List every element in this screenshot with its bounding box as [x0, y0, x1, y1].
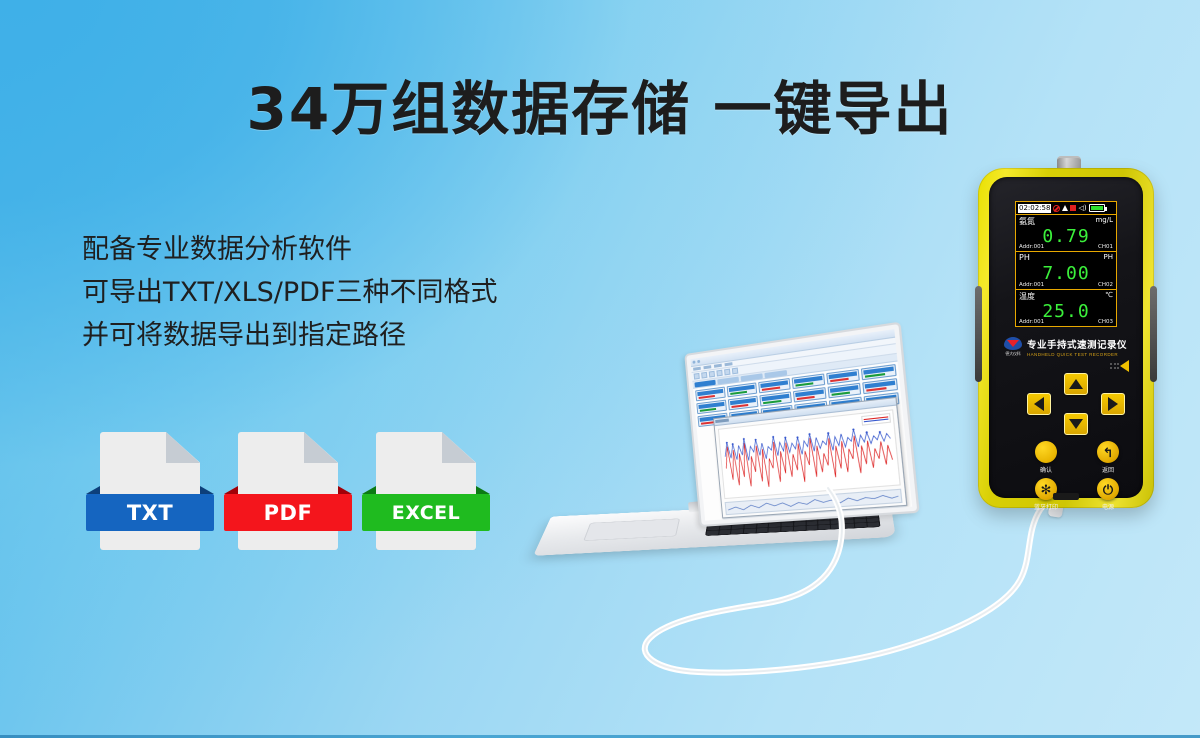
page-title: 34万组数据存储 一键导出: [0, 62, 1200, 146]
measurement-unit: mg/L: [1095, 216, 1113, 224]
back-button[interactable]: ↰ 返回: [1097, 441, 1119, 474]
device-function-buttons: 确认 ↰ 返回 ✻ 蓝牙打印 ⏻ 电源: [1015, 441, 1139, 511]
bluetooth-print-button-label: 蓝牙打印: [1034, 502, 1058, 511]
device-grip-right: [1150, 286, 1157, 382]
dpad-right-button[interactable]: [1101, 393, 1125, 415]
toolbar-icon[interactable]: [716, 370, 722, 377]
device-front-panel: 02:02:58 ◁) 氨氮 mg/L 0.79 Addr:001 CH01 P…: [989, 177, 1143, 498]
lcd-clock: 02:02:58: [1018, 204, 1051, 213]
export-format-icons: TXT PDF EXCEL: [100, 432, 476, 550]
lcd-status-bar: 02:02:58 ◁): [1016, 202, 1116, 215]
channel-card[interactable]: [793, 387, 826, 402]
channel-card[interactable]: [827, 383, 861, 399]
confirm-button-label: 确认: [1040, 465, 1052, 474]
brand-logo: 德大仪科: [1003, 337, 1023, 357]
alarm-icon: [1053, 205, 1060, 212]
speaker-horn-icon: [1120, 360, 1129, 372]
measurement-address: Addr:001: [1019, 319, 1044, 325]
menu-item[interactable]: [703, 365, 711, 369]
device-model-name-en: HANDHELD QUICK TEST RECORDER: [1027, 352, 1133, 357]
chart-window-title-text: [715, 419, 729, 424]
power-button-label: 电源: [1102, 502, 1114, 511]
arrow-down-icon: [1069, 419, 1083, 429]
toolbar-icon[interactable]: [724, 369, 730, 376]
measurement-channel: CH01: [1098, 244, 1113, 250]
brand-company-name: 德大仪科: [1003, 351, 1023, 357]
measurement-name: PH: [1019, 253, 1030, 262]
lcd-measurement-row: 温度 ℃ 25.0 Addr:001 CH03: [1016, 290, 1116, 326]
titlebar-icon: [692, 360, 695, 363]
excel-file-icon: EXCEL: [376, 432, 476, 550]
device-dpad: [1011, 373, 1141, 435]
measurement-channel: CH02: [1098, 282, 1113, 288]
device-usb-port: [1053, 493, 1079, 500]
device-grip-left: [975, 286, 982, 382]
toolbar-icon[interactable]: [701, 372, 707, 379]
confirm-button[interactable]: 确认: [1035, 441, 1057, 474]
pdf-file-icon: PDF: [238, 432, 338, 550]
speaker-icon: ◁): [1078, 205, 1086, 212]
measurement-unit: PH: [1104, 253, 1114, 261]
arrow-left-icon: [1034, 397, 1044, 411]
speaker-dots: [1110, 363, 1119, 369]
record-icon: [1070, 205, 1076, 211]
feature-description: 配备专业数据分析软件 可导出TXT/XLS/PDF三种不同格式 并可将数据导出到…: [82, 228, 497, 357]
device-lcd-screen: 02:02:58 ◁) 氨氮 mg/L 0.79 Addr:001 CH01 P…: [1015, 201, 1117, 327]
device-speaker: [1103, 359, 1129, 373]
excel-ribbon-label: EXCEL: [362, 494, 490, 531]
back-button-label: 返回: [1102, 465, 1114, 474]
menu-item[interactable]: [693, 367, 701, 371]
device-brand-block: 德大仪科 专业手持式速测记录仪 HANDHELD QUICK TEST RECO…: [1003, 337, 1133, 357]
channel-card[interactable]: [863, 378, 898, 394]
copy-line-3: 并可将数据导出到指定路径: [82, 314, 497, 357]
measurement-address: Addr:001: [1019, 282, 1044, 288]
lcd-measurement-row: 氨氮 mg/L 0.79 Addr:001 CH01: [1016, 215, 1116, 252]
menu-item[interactable]: [725, 362, 733, 366]
channel-card[interactable]: [696, 400, 726, 415]
toolbar-icon[interactable]: [694, 373, 700, 380]
txt-ribbon-label: TXT: [86, 494, 214, 531]
copy-line-2: 可导出TXT/XLS/PDF三种不同格式: [82, 271, 497, 314]
power-button[interactable]: ⏻ 电源: [1097, 478, 1119, 511]
power-icon: ⏻: [1097, 478, 1119, 500]
dpad-up-button[interactable]: [1064, 373, 1088, 395]
brand-mark-icon: [1004, 337, 1022, 350]
confirm-icon: [1035, 441, 1057, 463]
toolbar-icon[interactable]: [709, 371, 715, 378]
measurement-unit: ℃: [1105, 291, 1113, 299]
toolbar-icon[interactable]: [732, 368, 738, 375]
txt-file-icon: TXT: [100, 432, 200, 550]
dpad-left-button[interactable]: [1027, 393, 1051, 415]
titlebar-icon: [697, 360, 700, 363]
menu-item[interactable]: [714, 364, 722, 368]
copy-line-1: 配备专业数据分析软件: [82, 228, 497, 271]
battery-icon: [1089, 204, 1105, 212]
measurement-address: Addr:001: [1019, 244, 1044, 250]
channel-card[interactable]: [728, 396, 759, 411]
arrow-right-icon: [1108, 397, 1118, 411]
device-model-name-cn: 专业手持式速测记录仪: [1027, 337, 1133, 351]
handheld-device: 02:02:58 ◁) 氨氮 mg/L 0.79 Addr:001 CH01 P…: [978, 168, 1154, 508]
channel-card[interactable]: [760, 391, 792, 406]
dpad-down-button[interactable]: [1064, 413, 1088, 435]
arrow-up-icon: [1069, 379, 1083, 389]
lcd-measurement-row: PH PH 7.00 Addr:001 CH02: [1016, 252, 1116, 289]
pdf-ribbon-label: PDF: [224, 494, 352, 531]
brand-text-block: 专业手持式速测记录仪 HANDHELD QUICK TEST RECORDER: [1027, 337, 1133, 357]
back-arrow-icon: ↰: [1097, 441, 1119, 463]
measurement-channel: CH03: [1098, 319, 1113, 325]
signal-up-icon: [1062, 205, 1068, 211]
